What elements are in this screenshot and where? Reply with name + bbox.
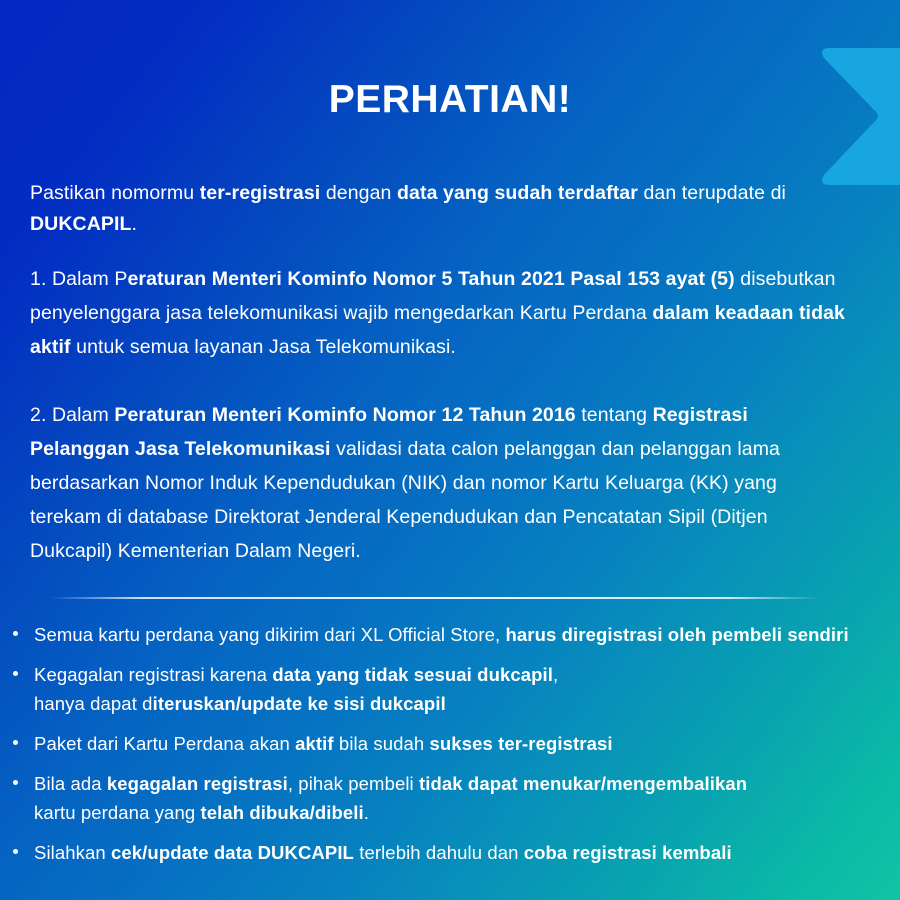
terms-bullet-list: Semua kartu perdana yang dikirim dari XL… bbox=[12, 620, 888, 878]
notice-poster: PERHATIAN! Pastikan nomormu ter-registra… bbox=[0, 0, 900, 900]
list-item-text: Bila ada kegagalan registrasi, pihak pem… bbox=[34, 773, 747, 823]
page-title: PERHATIAN! bbox=[0, 78, 900, 122]
bullet-dot-icon bbox=[13, 631, 18, 636]
regulation-paragraph-1: 1. Dalam Peraturan Menteri Kominfo Nomor… bbox=[30, 262, 850, 364]
regulation-paragraph-2: 2. Dalam Peraturan Menteri Kominfo Nomor… bbox=[30, 398, 850, 568]
bullet-dot-icon bbox=[13, 849, 18, 854]
bullet-dot-icon bbox=[13, 671, 18, 676]
list-item-text: Paket dari Kartu Perdana akan aktif bila… bbox=[34, 733, 613, 754]
bullet-dot-icon bbox=[13, 780, 18, 785]
bullet-dot-icon bbox=[13, 740, 18, 745]
list-item: Kegagalan registrasi karena data yang ti… bbox=[12, 660, 888, 718]
intro-paragraph: Pastikan nomormu ter-registrasi dengan d… bbox=[30, 178, 830, 240]
list-item: Paket dari Kartu Perdana akan aktif bila… bbox=[12, 729, 888, 758]
list-item: Semua kartu perdana yang dikirim dari XL… bbox=[12, 620, 888, 649]
list-item-text: Kegagalan registrasi karena data yang ti… bbox=[34, 664, 558, 714]
list-item: Silahkan cek/update data DUKCAPIL terleb… bbox=[12, 838, 888, 867]
section-divider bbox=[50, 597, 820, 599]
list-item-text: Silahkan cek/update data DUKCAPIL terleb… bbox=[34, 842, 732, 863]
list-item: Bila ada kegagalan registrasi, pihak pem… bbox=[12, 769, 888, 827]
list-item-text: Semua kartu perdana yang dikirim dari XL… bbox=[34, 624, 849, 645]
